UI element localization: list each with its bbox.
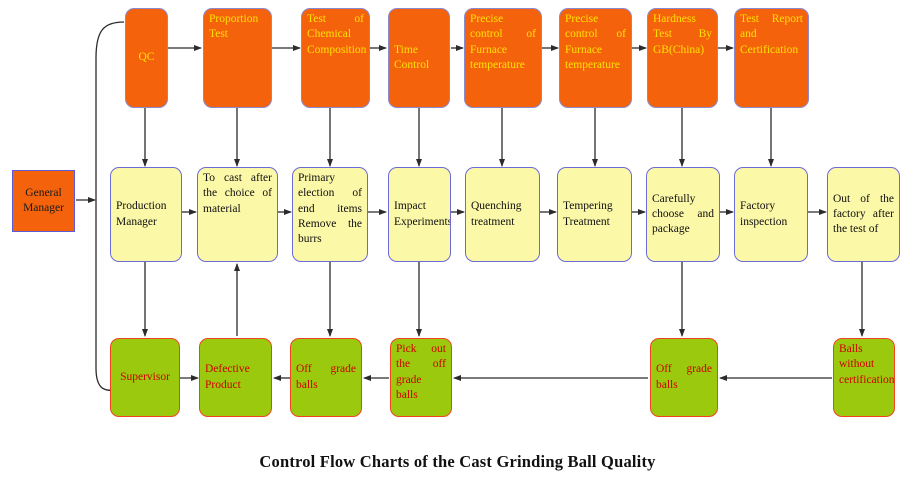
node-label: Pick out the off grade balls	[396, 342, 446, 403]
node-precise-control-furnace-temperature-1[interactable]: Precise control of Furnace temperature	[464, 8, 542, 108]
node-hardness-test-by-gb[interactable]: Hardness Test By GB(China)	[647, 8, 718, 108]
node-off-grade-balls-2[interactable]: Off grade balls	[650, 338, 718, 417]
node-primary-election-of-end-items[interactable]: Primary election of end items Remove the…	[292, 167, 368, 262]
node-test-of-chemical-composition[interactable]: Test of Chemical Composition	[301, 8, 370, 108]
node-label: Out of the factory after the test of	[833, 192, 894, 238]
node-pick-out-the-off-grade-balls[interactable]: Pick out the off grade balls	[390, 338, 452, 417]
node-label: Carefully choose and package	[652, 192, 714, 238]
node-label: Test Report and Certification	[740, 12, 803, 58]
node-proportion-test[interactable]: Proportion Test	[203, 8, 272, 108]
node-test-report-and-certification[interactable]: Test Report and Certification	[734, 8, 809, 108]
node-production-manager[interactable]: Production Manager	[110, 167, 182, 262]
node-label: Precise control of Furnace temperature	[470, 12, 536, 73]
node-label: Off grade balls	[296, 362, 356, 393]
node-qc[interactable]: QC	[125, 8, 168, 108]
chart-title: Control Flow Charts of the Cast Grinding…	[0, 452, 915, 472]
node-label: Factory inspection	[740, 199, 802, 230]
node-label: Primary election of end items Remove the…	[298, 171, 362, 247]
node-label: Impact Experiments	[394, 199, 445, 230]
node-label: Time Control	[394, 43, 444, 74]
node-precise-control-furnace-temperature-2[interactable]: Precise control of Furnace temperature	[559, 8, 632, 108]
node-quenching-treatment[interactable]: Quenching treatment	[465, 167, 540, 262]
node-off-grade-balls-1[interactable]: Off grade balls	[290, 338, 362, 417]
node-label: Hardness Test By GB(China)	[653, 12, 712, 58]
node-label: Tempering Treatment	[563, 199, 626, 230]
node-balls-without-certification[interactable]: Balls without certification	[833, 338, 895, 417]
node-impact-experiments[interactable]: Impact Experiments	[388, 167, 451, 262]
node-label: General Manager	[18, 186, 69, 217]
node-general-manager[interactable]: General Manager	[12, 170, 75, 232]
node-label: Test of Chemical Composition	[307, 12, 364, 58]
node-tempering-treatment[interactable]: Tempering Treatment	[557, 167, 632, 262]
node-factory-inspection[interactable]: Factory inspection	[734, 167, 808, 262]
node-label: Quenching treatment	[471, 199, 534, 230]
node-defective-product[interactable]: Defective Product	[199, 338, 272, 417]
node-to-cast-after-the-choice-of-material[interactable]: To cast after the choice of material	[197, 167, 278, 262]
node-label: Proportion Test	[209, 12, 266, 43]
node-carefully-choose-and-package[interactable]: Carefully choose and package	[646, 167, 720, 262]
node-label: Production Manager	[116, 199, 176, 230]
node-out-of-the-factory[interactable]: Out of the factory after the test of	[827, 167, 900, 262]
node-label: Defective Product	[205, 362, 266, 393]
node-label: Balls without certification	[839, 342, 889, 388]
node-label: Off grade balls	[656, 362, 712, 393]
node-label: QC	[131, 50, 162, 65]
node-label: To cast after the choice of material	[203, 171, 272, 217]
node-label: Precise control of Furnace temperature	[565, 12, 626, 73]
flowchart-canvas: QC Proportion Test Test of Chemical Comp…	[0, 0, 915, 493]
node-label: Supervisor	[116, 370, 174, 385]
node-time-control[interactable]: Time Control	[388, 8, 450, 108]
node-supervisor[interactable]: Supervisor	[110, 338, 180, 417]
